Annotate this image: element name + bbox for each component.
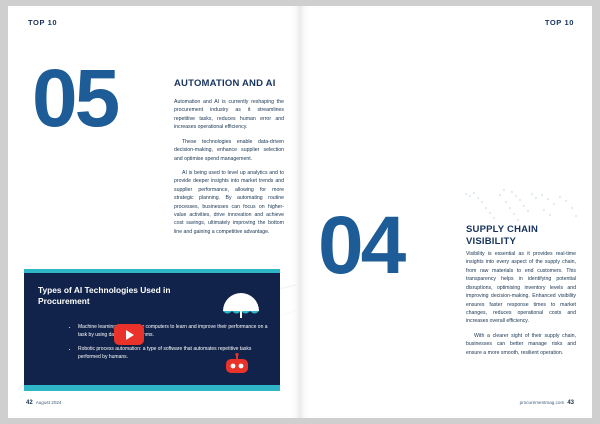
magazine-spread-screenshot: TOP 10 05 AUTOMATION AND AI Automation a…: [0, 0, 600, 424]
running-head-right: TOP 10: [545, 18, 574, 27]
website: procurementmag.com: [520, 400, 565, 405]
page-number-left: 42August 2024: [26, 400, 62, 406]
ai-technologies-info-card: Types of AI Technologies Used in Procure…: [24, 269, 280, 391]
running-head-left: TOP 10: [28, 18, 57, 27]
article-number-04: 04: [318, 211, 403, 281]
left-page: TOP 10 05 AUTOMATION AND AI Automation a…: [8, 6, 300, 418]
card-bottom-strip: [24, 385, 280, 391]
headline-automation-and-ai: AUTOMATION AND AI: [174, 78, 294, 90]
paragraph: These technologies enable data-driven de…: [174, 138, 284, 163]
play-button-ai-video[interactable]: [114, 324, 144, 345]
right-page: TOP 10: [300, 6, 592, 418]
card-top-strip: [24, 269, 280, 273]
paragraph: Visibility is essential as it provides r…: [466, 250, 576, 326]
body-text-supply-chain: Visibility is essential as it provides r…: [466, 250, 576, 363]
paragraph: AI is being used to level up analytics a…: [174, 169, 284, 236]
page-number-right: procurementmag.com43: [520, 400, 574, 406]
headline-supply-chain-visibility: SUPPLY CHAIN VISIBILITY: [466, 224, 586, 248]
list-item: Machine learning: is a way for computers…: [78, 324, 274, 339]
issue-date: August 2024: [36, 400, 62, 405]
umbrella-icon: [220, 293, 262, 319]
two-page-spread: TOP 10 05 AUTOMATION AND AI Automation a…: [8, 6, 592, 418]
robot-icon: [220, 353, 254, 379]
info-card-title: Types of AI Technologies Used in Procure…: [38, 285, 218, 307]
body-text-automation: Automation and AI is currently reshaping…: [174, 98, 284, 242]
world-map-graphic: [456, 182, 586, 230]
paragraph: With a clearer sight of their supply cha…: [466, 332, 576, 357]
article-number-05: 05: [32, 64, 117, 134]
paragraph: Automation and AI is currently reshaping…: [174, 98, 284, 132]
